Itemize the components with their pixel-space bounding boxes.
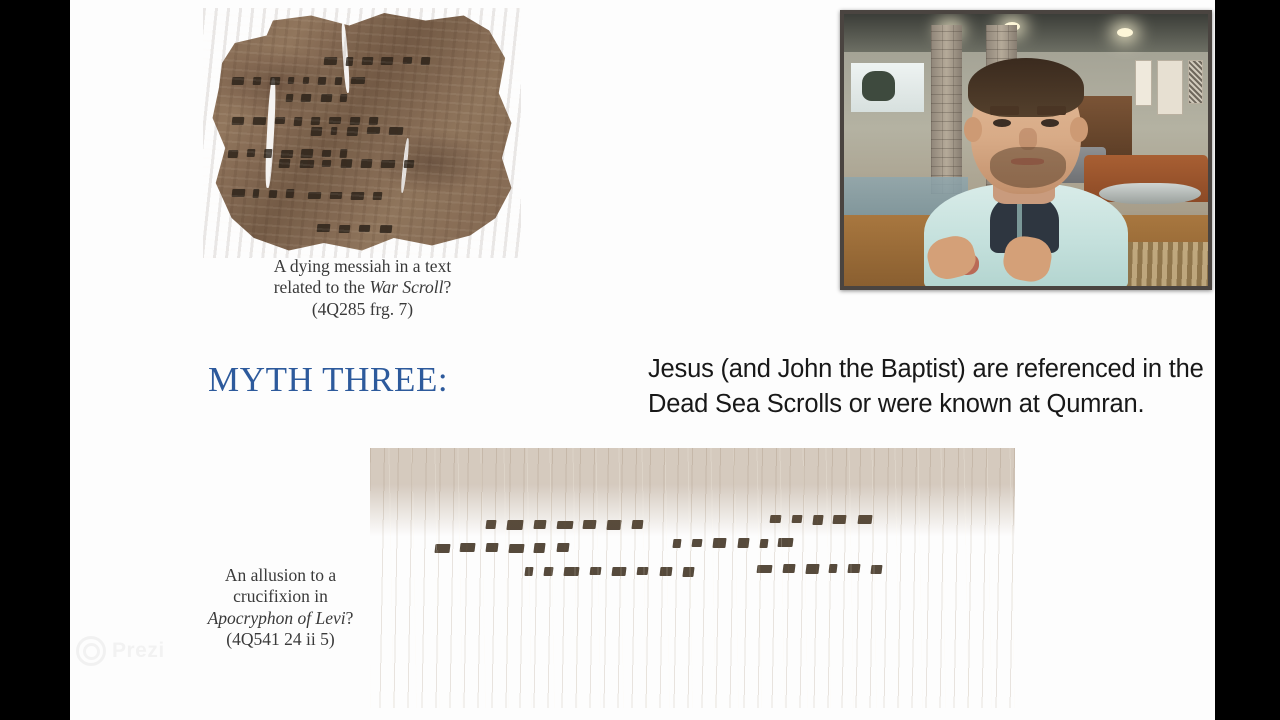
presenter-eye — [993, 119, 1011, 127]
hebrew-text-line — [770, 513, 871, 526]
presenter-ear — [964, 117, 982, 141]
caption-top: A dying messiah in a text related to the… — [180, 256, 545, 320]
hebrew-text-line — [317, 223, 391, 234]
hebrew-text-line — [311, 126, 403, 137]
hebrew-text-line — [232, 76, 365, 87]
scroll-strip-bottom-image — [370, 448, 1015, 708]
hebrew-text-line — [324, 56, 430, 67]
myth-statement-line2: Dead Sea Scrolls or were known at Qumran… — [648, 387, 1215, 422]
hebrew-text-line — [486, 518, 643, 531]
caption-top-line2: related to the War Scroll? — [180, 277, 545, 298]
coffee-table — [1099, 183, 1201, 205]
caption-bottom-title: Apocryphon of Levi — [208, 608, 346, 628]
caption-bottom-line3: Apocryphon of Levi? — [173, 608, 388, 629]
prezi-watermark[interactable]: Prezi — [76, 632, 186, 670]
letterbox-bar-left — [0, 0, 70, 720]
presenter-eyebrow — [990, 106, 1019, 114]
hebrew-text-line — [286, 93, 348, 104]
hebrew-text-line — [435, 542, 569, 555]
scroll-fragment-top-image — [203, 8, 521, 258]
hebrew-text-line — [673, 536, 793, 549]
stone-column — [931, 25, 962, 194]
wall-art — [1157, 60, 1182, 114]
presenter-ear — [1070, 117, 1088, 141]
wall-art — [1135, 60, 1151, 106]
presenter-mouth — [1011, 158, 1044, 165]
hebrew-text-line — [279, 158, 414, 169]
hebrew-text-line — [525, 565, 694, 578]
myth-statement: Jesus (and John the Baptist) are referen… — [648, 352, 1215, 421]
caption-bottom-line1: An allusion to a — [173, 565, 388, 586]
room-plant — [862, 71, 895, 101]
presenter-eye — [1041, 119, 1059, 127]
webcam-video-frame — [844, 14, 1208, 286]
caption-bottom-reference: (4Q541 24 ii 5) — [173, 629, 388, 650]
ceiling-light — [1117, 28, 1133, 37]
presentation-stage: A dying messiah in a text related to the… — [0, 0, 1280, 720]
presenter-beard — [990, 147, 1066, 188]
caption-bottom-line3-suffix: ? — [346, 608, 354, 628]
room-ceiling — [844, 14, 1208, 52]
myth-statement-line1: Jesus (and John the Baptist) are referen… — [648, 352, 1215, 387]
prezi-logo-icon — [76, 636, 106, 666]
wall-art — [1188, 60, 1203, 104]
prezi-wordmark: Prezi — [112, 639, 165, 663]
hebrew-text-line — [308, 191, 382, 202]
caption-top-title: War Scroll — [369, 277, 443, 297]
caption-top-line2-suffix: ? — [444, 277, 452, 297]
hebrew-text-line — [757, 562, 882, 575]
presenter-eyebrow — [1037, 106, 1066, 114]
hebrew-text-line — [232, 188, 295, 199]
scroll-parchment-surface — [370, 448, 1015, 708]
caption-bottom-line2: crucifixion in — [173, 586, 388, 607]
presenter-hair — [968, 58, 1084, 118]
letterbox-bar-right — [1215, 0, 1280, 720]
caption-bottom: An allusion to a crucifixion in Apocryph… — [173, 565, 388, 650]
caption-top-line2-prefix: related to the — [274, 277, 370, 297]
myth-label: MYTH THREE: — [208, 360, 448, 400]
presenter-webcam-overlay[interactable] — [840, 10, 1212, 290]
caption-top-line1: A dying messiah in a text — [180, 256, 545, 277]
caption-top-reference: (4Q285 frg. 7) — [180, 299, 545, 320]
